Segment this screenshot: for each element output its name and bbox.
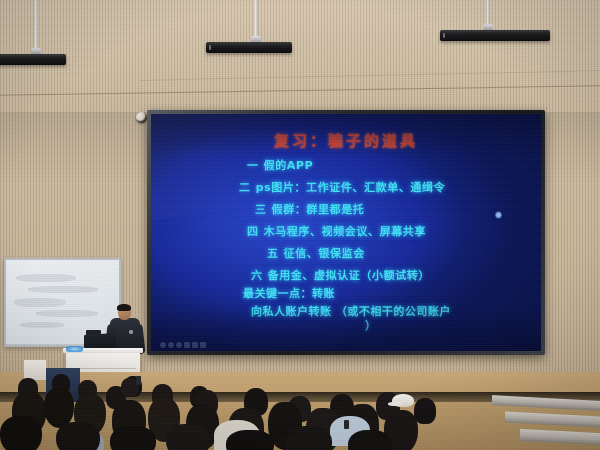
speaker-bar-icon bbox=[440, 30, 550, 41]
lecture-hall-photo: 复习：骗子的道具 一假的APP 二ps图片：工作证件、汇款单、通缉令 三假群：群… bbox=[0, 0, 600, 450]
presentation-screen: 复习：骗子的道具 一假的APP 二ps图片：工作证件、汇款单、通缉令 三假群：群… bbox=[147, 110, 545, 355]
audience-hair-front bbox=[56, 422, 100, 450]
ceiling-speaker-center bbox=[190, 0, 280, 66]
presenter-badge-icon bbox=[129, 330, 133, 334]
audience-hair-front bbox=[348, 430, 392, 450]
audience-head bbox=[414, 398, 436, 424]
speaker-pole-icon bbox=[35, 0, 38, 50]
presenter-hair bbox=[117, 304, 131, 311]
lectern-indicator-light bbox=[66, 346, 83, 352]
screen-display-area: 复习：骗子的道具 一假的APP 二ps图片：工作证件、汇款单、通缉令 三假群：群… bbox=[151, 114, 541, 351]
speaker-bar-icon bbox=[0, 54, 66, 65]
audience-hair-front bbox=[226, 430, 274, 450]
ceiling-speaker-right bbox=[430, 0, 540, 56]
audience-hair-front bbox=[166, 424, 210, 450]
ceiling-speaker-left bbox=[0, 0, 74, 68]
speaker-bar-icon bbox=[206, 42, 292, 53]
audience-hair-front bbox=[286, 426, 332, 450]
audience-phone-icon bbox=[344, 420, 349, 429]
speaker-pole-icon bbox=[255, 0, 258, 38]
wall-sensor-icon bbox=[136, 112, 147, 123]
audience-phone-icon bbox=[136, 376, 141, 385]
screen-light-reflection bbox=[495, 211, 502, 219]
speaker-pole-icon bbox=[487, 0, 490, 26]
audience-hair-front bbox=[110, 426, 156, 450]
audience-hair-front bbox=[0, 416, 42, 450]
audience-seating bbox=[0, 364, 600, 450]
audience-white-cap bbox=[392, 394, 414, 407]
